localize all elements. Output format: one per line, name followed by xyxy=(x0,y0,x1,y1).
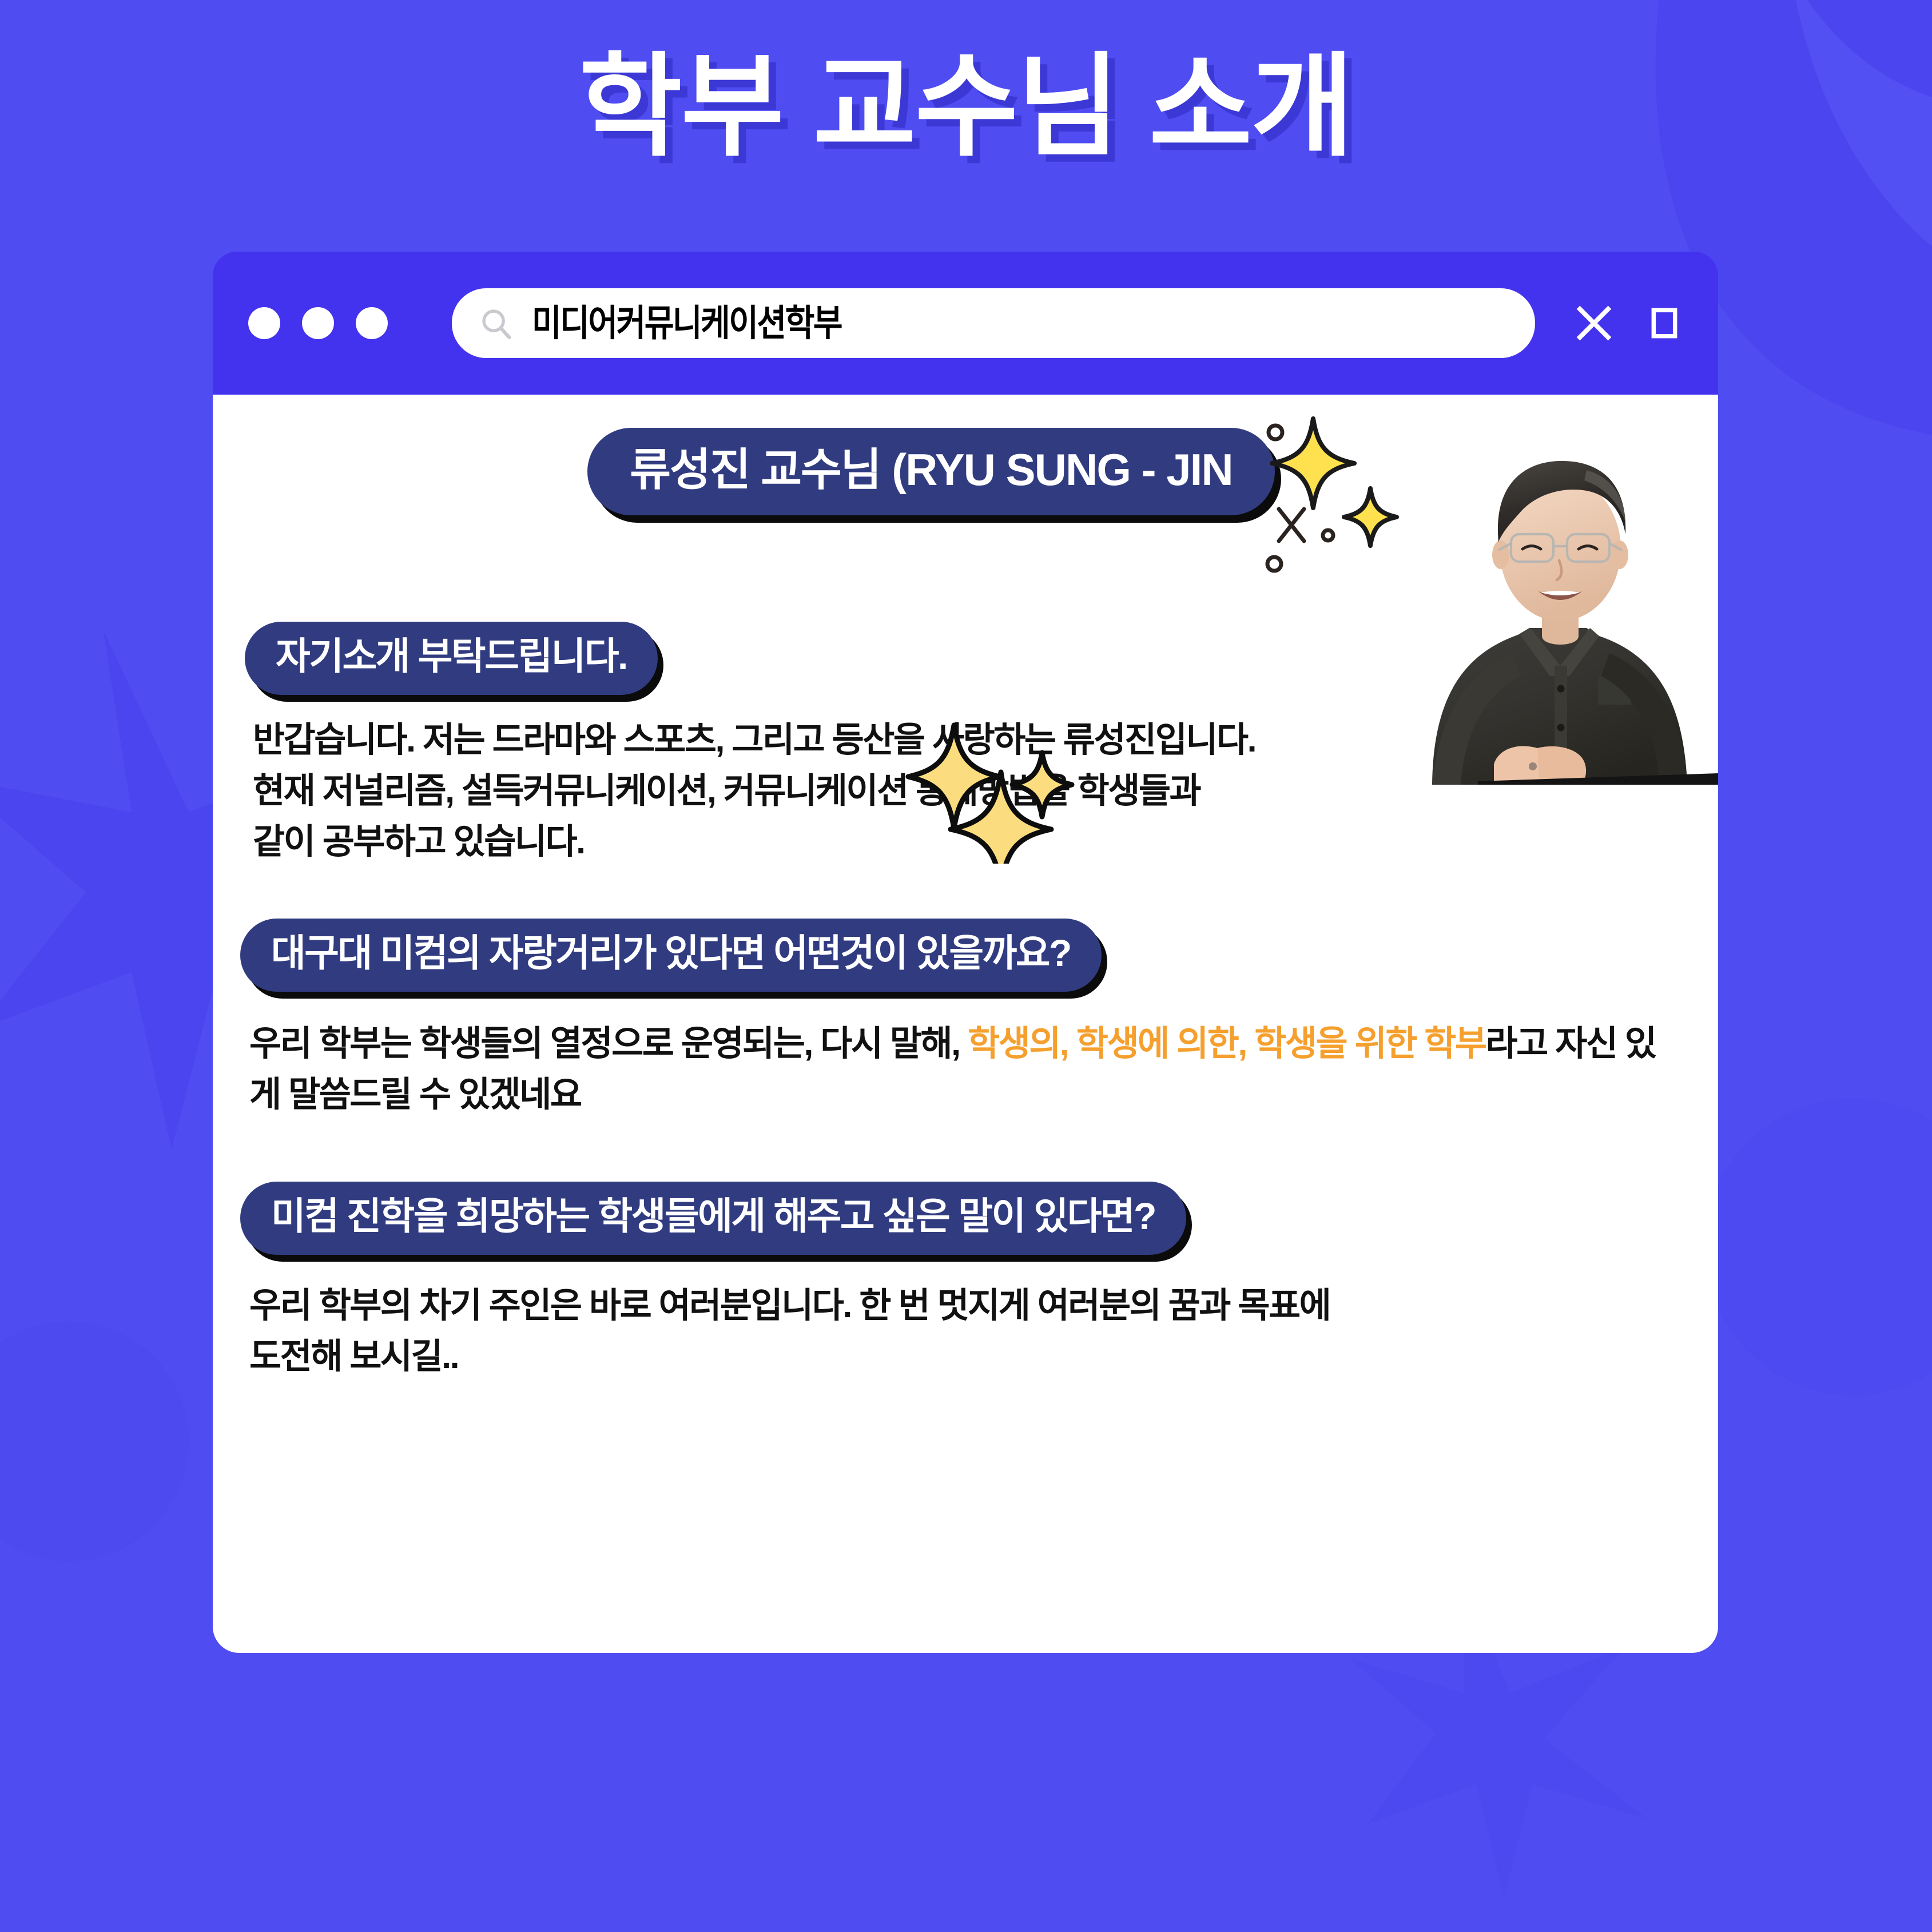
traffic-light-dots xyxy=(248,307,388,339)
window-controls xyxy=(1573,302,1683,344)
question-badge-3: 미컴 진학을 희망하는 학생들에게 해주고 싶은 말이 있다면? xyxy=(240,1182,1186,1255)
search-icon xyxy=(478,305,514,341)
browser-window: 미디어커뮤니케이션학부 xyxy=(213,252,1718,1653)
professor-name-badge: 류성진 교수님 (RYU SUNG - JIN xyxy=(587,428,1274,515)
browser-content: 류성진 교수님 (RYU SUNG - JIN 자기소개 부탁드립니다. 반갑습… xyxy=(213,395,1718,1653)
answer-2-before: 우리 학부는 학생들의 열정으로 운영되는, 다시 말해, xyxy=(249,1024,968,1063)
sparkle-cluster-middle xyxy=(905,715,1094,864)
sparkle-cluster-right xyxy=(1249,408,1421,603)
maximize-icon[interactable] xyxy=(1646,305,1683,341)
question-badge-1: 자기소개 부탁드립니다. xyxy=(245,622,658,695)
close-icon[interactable] xyxy=(1573,302,1615,344)
traffic-light-dot-1[interactable] xyxy=(248,307,280,339)
search-bar[interactable]: 미디어커뮤니케이션학부 xyxy=(452,288,1535,358)
answer-text-1: 반갑습니다. 저는 드라마와 스포츠, 그리고 등산을 사랑하는 류성진입니다.… xyxy=(253,714,1425,867)
question-block-2: 대구대 미컴의 자랑거리가 있다면 어떤것이 있을까요? xyxy=(240,919,1718,992)
answer-text-2: 우리 학부는 학생들의 열정으로 운영되는, 다시 말해, 학생의, 학생에 의… xyxy=(249,1018,1679,1120)
browser-chrome: 미디어커뮤니케이션학부 xyxy=(213,252,1718,395)
traffic-light-dot-3[interactable] xyxy=(356,307,388,339)
traffic-light-dot-2[interactable] xyxy=(302,307,334,339)
answer-2-highlight: 학생의, 학생에 의한, 학생을 위한 학부 xyxy=(968,1024,1485,1063)
search-input-value[interactable]: 미디어커뮤니케이션학부 xyxy=(532,305,841,341)
professor-photo xyxy=(1398,407,1718,785)
page-title: 학부 교수님 소개 xyxy=(0,48,1932,166)
answer-text-3: 우리 학부의 차기 주인은 바로 여러분입니다. 한 번 멋지게 여러분의 꿈과… xyxy=(249,1280,1582,1382)
question-badge-2: 대구대 미컴의 자랑거리가 있다면 어떤것이 있을까요? xyxy=(240,919,1102,992)
question-block-3: 미컴 진학을 희망하는 학생들에게 해주고 싶은 말이 있다면? xyxy=(240,1182,1718,1255)
